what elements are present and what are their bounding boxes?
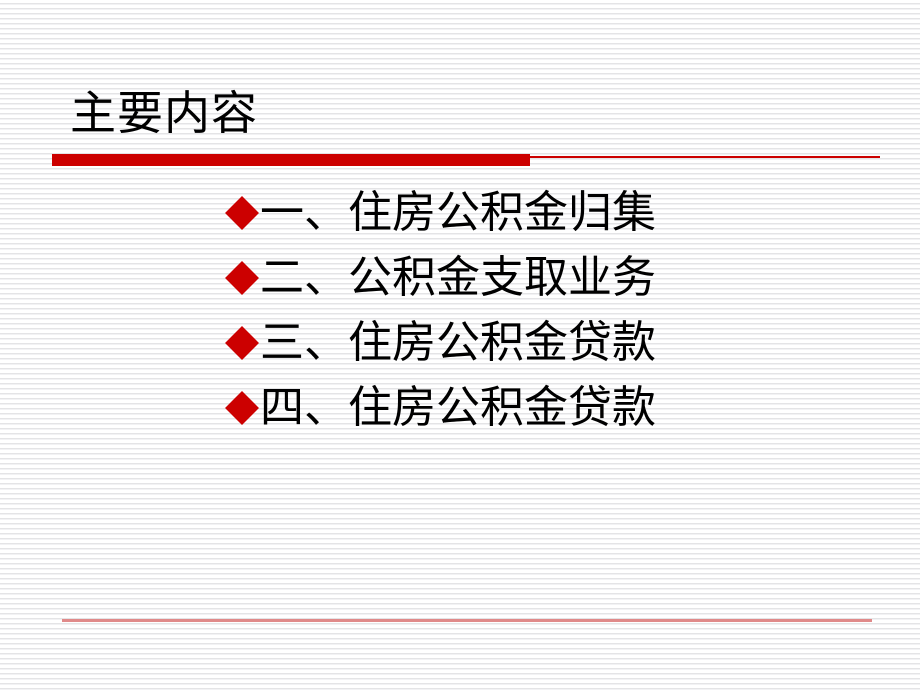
diamond-bullet-icon	[225, 391, 259, 425]
list-item-label: 四、住房公积金贷款	[260, 383, 656, 433]
list-item-label: 一、住房公积金归集	[260, 188, 656, 238]
list-item[interactable]: 三、住房公积金贷款	[228, 310, 868, 375]
list-item[interactable]: 二、公积金支取业务	[228, 245, 868, 310]
diamond-bullet-icon	[225, 196, 259, 230]
list-item-label: 三、住房公积金贷款	[260, 318, 656, 368]
presentation-slide: 主要内容 一、住房公积金归集 二、公积金支取业务 三、住房公积金贷款 四、住房公…	[0, 0, 920, 690]
page-title: 主要内容	[70, 86, 258, 142]
footer-rule	[62, 619, 872, 622]
list-item-label: 二、公积金支取业务	[260, 253, 656, 303]
diamond-bullet-icon	[225, 326, 259, 360]
title-divider	[52, 152, 880, 168]
contents-list: 一、住房公积金归集 二、公积金支取业务 三、住房公积金贷款 四、住房公积金贷款	[228, 180, 868, 440]
list-item[interactable]: 四、住房公积金贷款	[228, 375, 868, 440]
list-item[interactable]: 一、住房公积金归集	[228, 180, 868, 245]
title-divider-thick-bar	[52, 154, 530, 166]
diamond-bullet-icon	[225, 261, 259, 295]
